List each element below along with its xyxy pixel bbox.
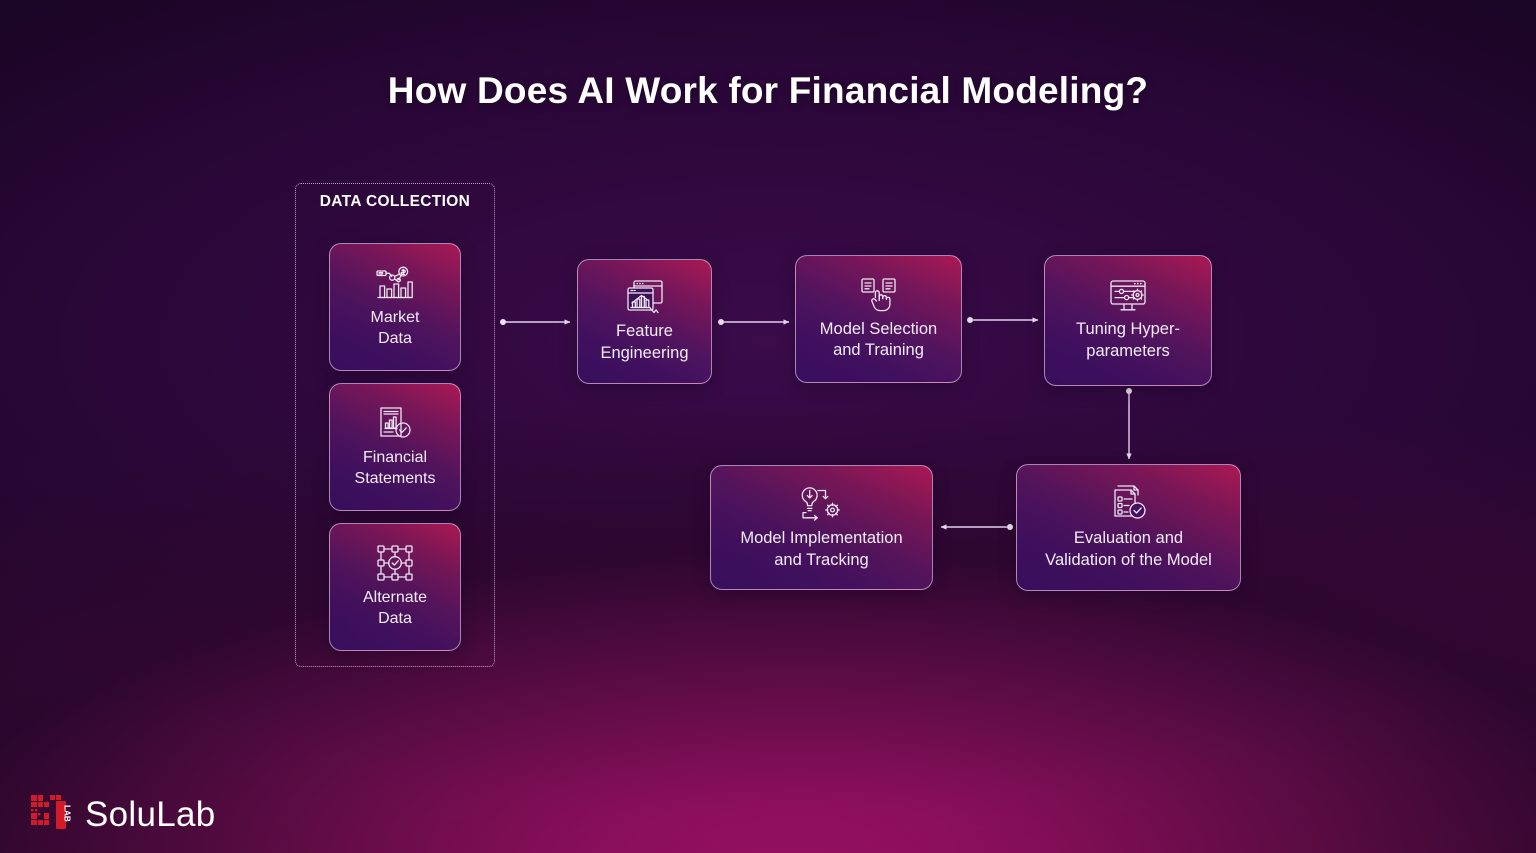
card-feature-engineering[interactable]: Feature Engineering bbox=[577, 259, 712, 384]
solulab-logo-mark: LAB bbox=[30, 793, 72, 835]
card-label: Evaluation and Validation of the Model bbox=[1039, 528, 1218, 571]
card-model-implementation-tracking[interactable]: Model Implementation and Tracking bbox=[710, 465, 933, 590]
card-model-selection-training[interactable]: Model Selection and Training bbox=[795, 255, 962, 383]
card-label: Tuning Hyper- parameters bbox=[1070, 319, 1186, 362]
connector-model-to-tuning bbox=[967, 317, 1038, 323]
card-market-data[interactable]: Market Data bbox=[329, 243, 461, 371]
connector-layer bbox=[0, 0, 1536, 853]
card-evaluation-validation[interactable]: Evaluation and Validation of the Model bbox=[1016, 464, 1241, 591]
brand-name: SoluLab bbox=[85, 797, 216, 832]
card-label: Feature Engineering bbox=[594, 321, 694, 364]
connector-group-to-feature bbox=[500, 319, 570, 325]
card-label: Market Data bbox=[365, 308, 426, 350]
card-alternate-data[interactable]: Alternate Data bbox=[329, 523, 461, 651]
page-title: How Does AI Work for Financial Modeling? bbox=[0, 70, 1536, 112]
card-label: Alternate Data bbox=[357, 588, 433, 630]
connector-feature-to-model bbox=[718, 319, 789, 325]
card-label: Financial Statements bbox=[349, 448, 442, 490]
evaluation-validation-icon bbox=[1110, 484, 1148, 522]
connector-evaluation-to-implementation bbox=[941, 524, 1013, 530]
market-data-icon bbox=[375, 264, 415, 302]
tuning-hyperparameters-icon bbox=[1108, 279, 1148, 313]
card-label: Model Selection and Training bbox=[814, 319, 943, 362]
financial-statements-icon bbox=[376, 404, 414, 442]
card-label: Model Implementation and Tracking bbox=[734, 528, 908, 571]
card-financial-statements[interactable]: Financial Statements bbox=[329, 383, 461, 511]
alternate-data-icon bbox=[376, 544, 414, 582]
model-selection-icon bbox=[859, 277, 899, 313]
data-collection-label: DATA COLLECTION bbox=[296, 193, 494, 211]
brand-logo[interactable]: LAB SoluLab bbox=[30, 793, 216, 835]
feature-engineering-icon bbox=[626, 279, 664, 315]
connector-tuning-to-evaluation bbox=[1126, 388, 1132, 459]
logo-mark-lab-text: LAB bbox=[62, 805, 71, 822]
card-tuning-hyperparameters[interactable]: Tuning Hyper- parameters bbox=[1044, 255, 1212, 386]
infographic-stage: How Does AI Work for Financial Modeling? bbox=[0, 0, 1536, 853]
model-implementation-icon bbox=[801, 484, 843, 522]
